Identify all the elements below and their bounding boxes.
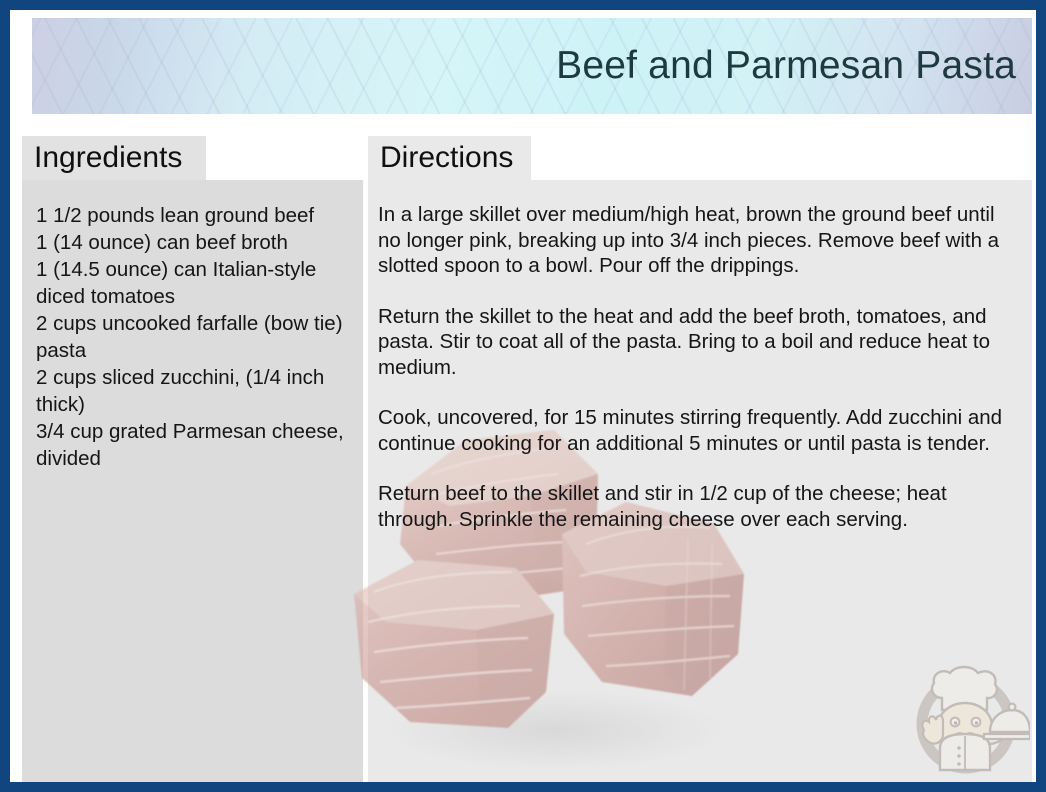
direction-step: In a large skillet over medium/high heat… [378,202,1022,279]
tab-ingredients: Ingredients [22,136,206,180]
direction-step: Return beef to the skillet and stir in 1… [378,481,1022,532]
list-item: 2 cups sliced zucchini, (1/4 inch thick) [36,364,349,418]
ingredient-list: 1 1/2 pounds lean ground beef 1 (14 ounc… [36,202,349,472]
list-item: 1 (14.5 ounce) can Italian-style diced t… [36,256,349,310]
list-item: 1 1/2 pounds lean ground beef [36,202,349,229]
tab-directions: Directions [368,136,531,180]
title-banner: Beef and Parmesan Pasta [32,18,1032,114]
chef-logo-icon [902,652,1030,780]
slide-inner: Beef and Parmesan Pasta Ingredients Dire… [10,10,1036,782]
direction-step: Cook, uncovered, for 15 minutes stirring… [378,405,1022,456]
page-title: Beef and Parmesan Pasta [556,44,1016,88]
recipe-slide: Beef and Parmesan Pasta Ingredients Dire… [0,0,1046,792]
ingredients-panel: 1 1/2 pounds lean ground beef 1 (14 ounc… [22,180,363,782]
directions-heading: Directions [380,141,513,175]
list-item: 1 (14 ounce) can beef broth [36,229,349,256]
direction-step: Return the skillet to the heat and add t… [378,304,1022,381]
ingredients-heading: Ingredients [34,141,182,175]
list-item: 3/4 cup grated Parmesan cheese, divided [36,418,349,472]
list-item: 2 cups uncooked farfalle (bow tie) pasta [36,310,349,364]
